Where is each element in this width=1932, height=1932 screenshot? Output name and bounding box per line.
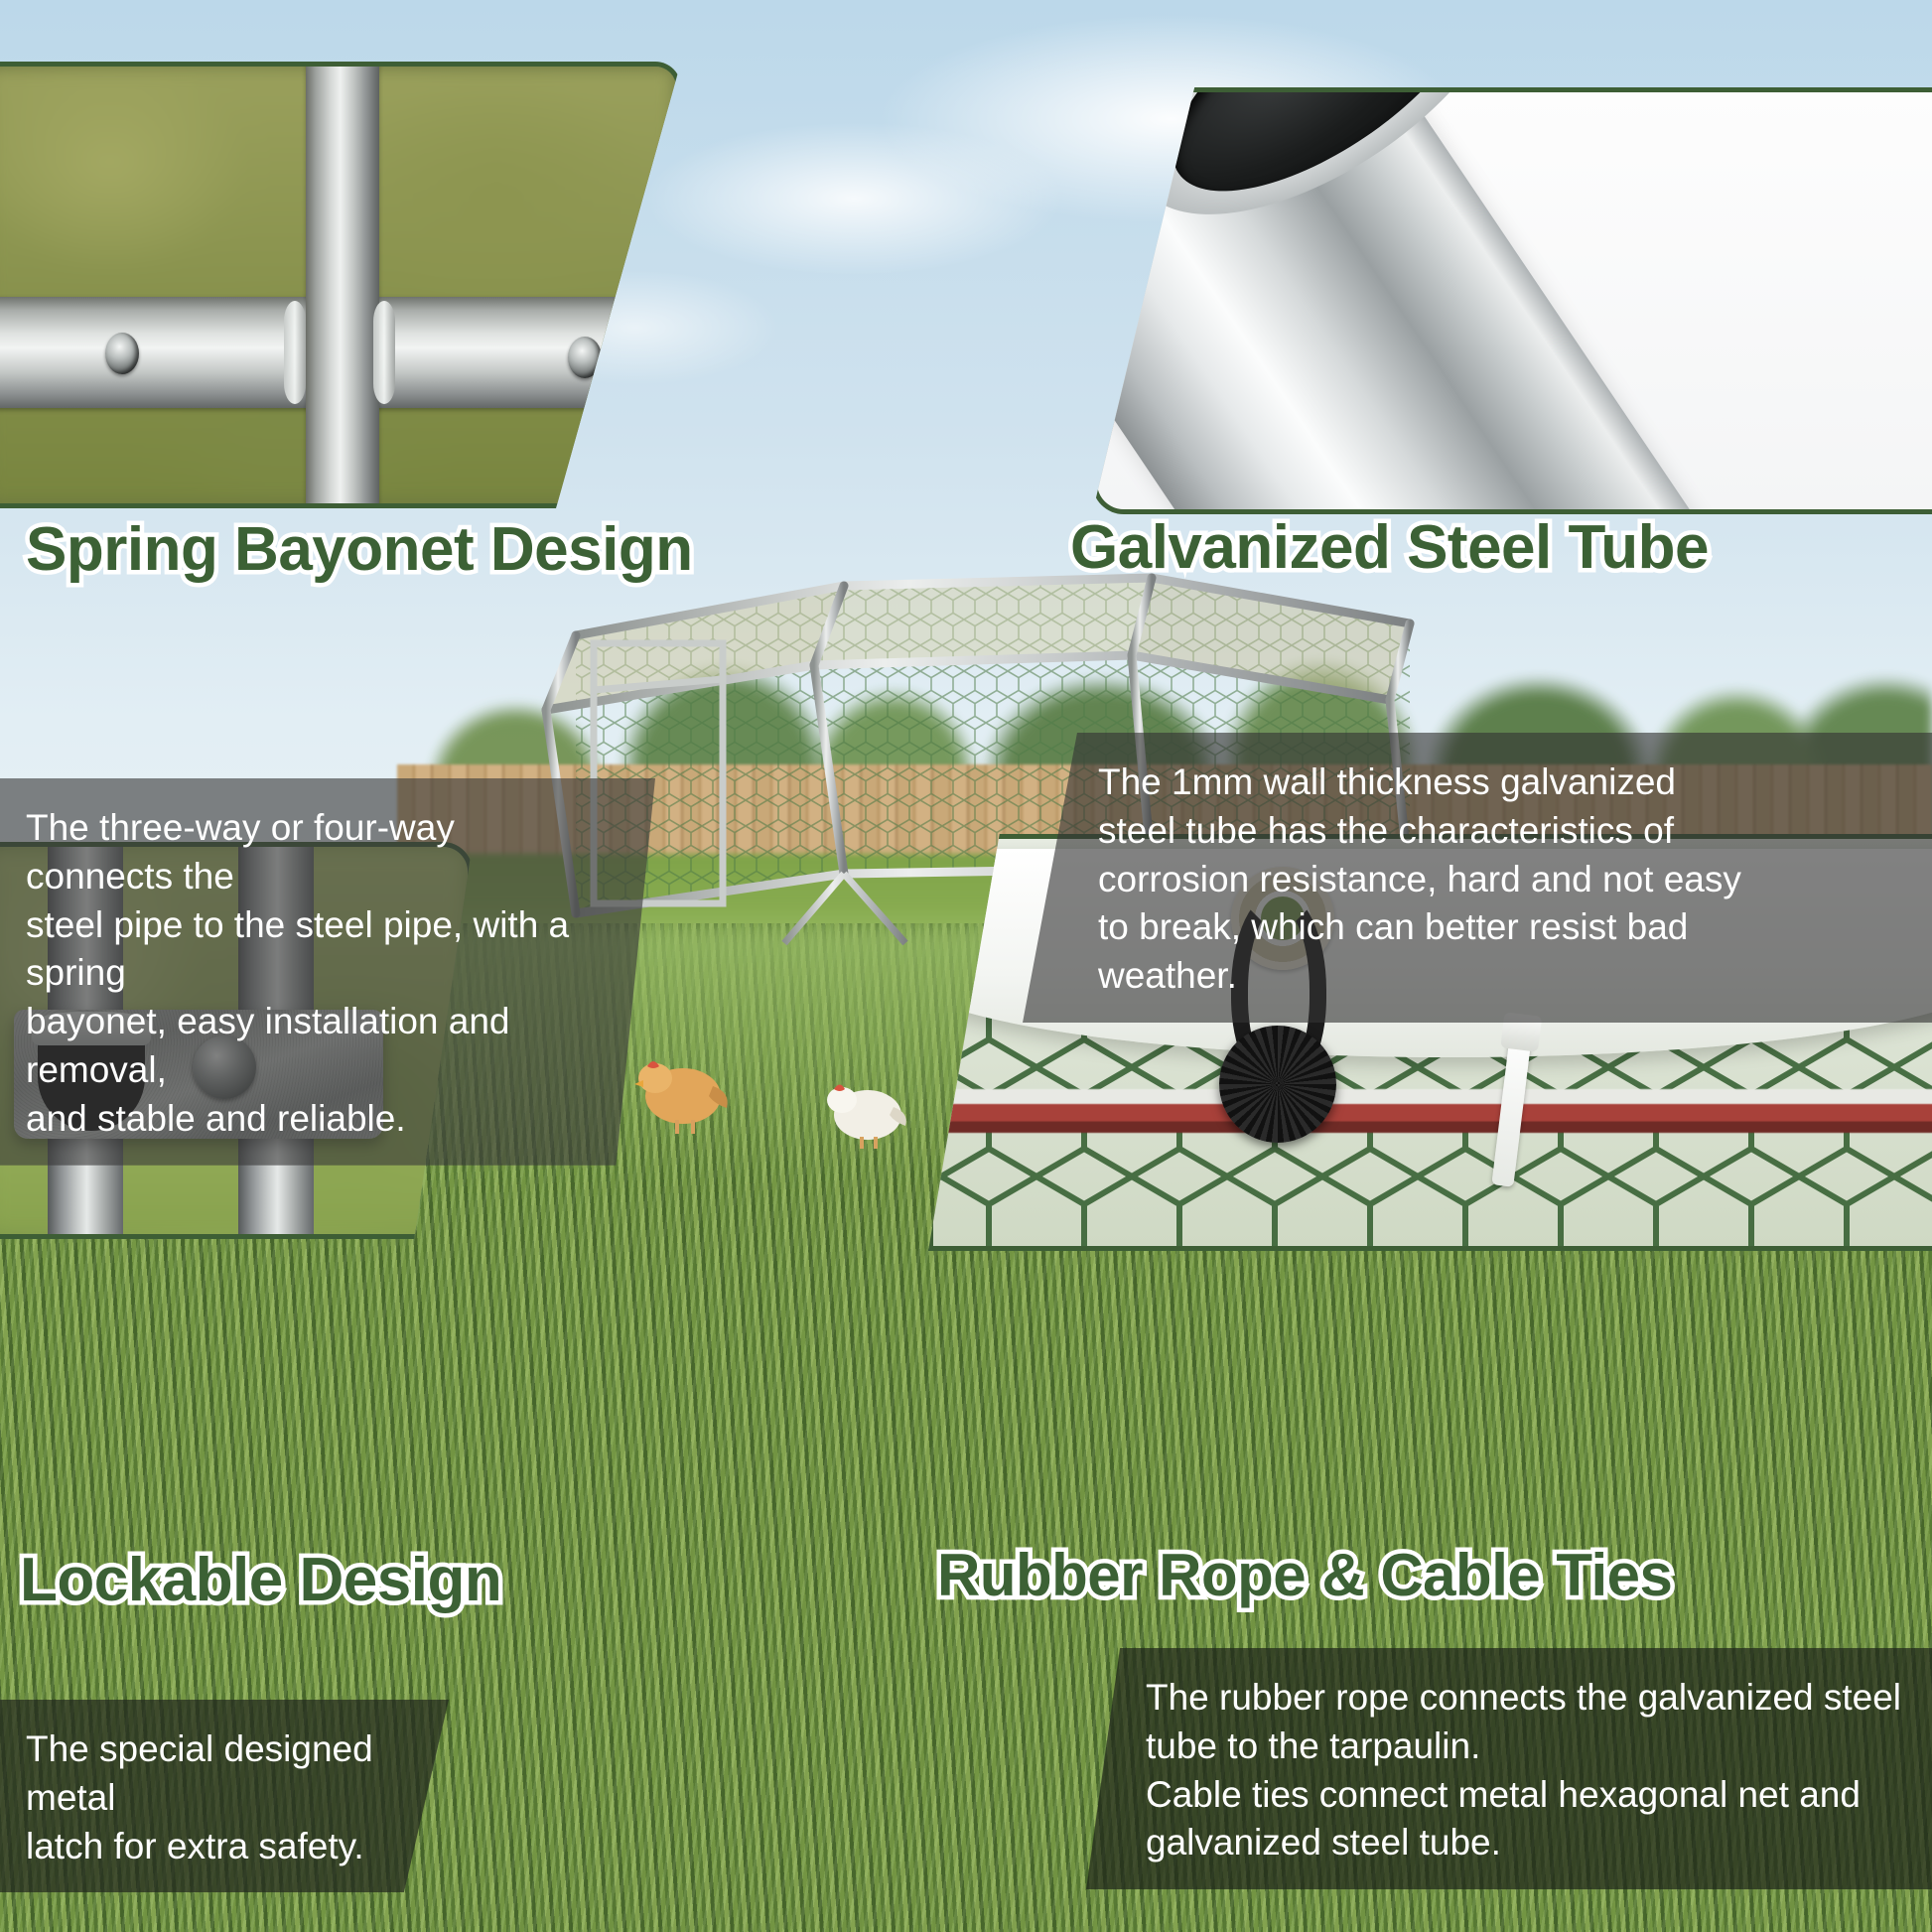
text-line: to break, which can better resist bad: [1098, 903, 1902, 952]
vertical-steel-pipe: [306, 62, 379, 508]
feature-title-rubber-rope-cable-ties: Rubber Rope & Cable Ties: [937, 1541, 1672, 1609]
feature-title-spring-bayonet: Spring Bayonet Design: [26, 514, 693, 585]
feature-text-galvanized-steel-tube: The 1mm wall thickness galvanized steel …: [1023, 733, 1932, 1023]
text-line: tube to the tarpaulin.: [1146, 1723, 1902, 1771]
feature-title-galvanized-steel-tube: Galvanized Steel Tube: [1070, 512, 1709, 583]
infographic-canvas: Spring Bayonet Design Galvanized Steel T…: [0, 0, 1932, 1932]
text-line: The rubber rope connects the galvanized …: [1146, 1674, 1902, 1723]
weld-ring-right: [373, 301, 395, 404]
text-line: and stable and reliable.: [26, 1095, 596, 1144]
text-line: galvanized steel tube.: [1146, 1819, 1902, 1867]
text-line: bayonet, easy installation and removal,: [26, 998, 596, 1095]
galvanized-tube-bar: [928, 1089, 1932, 1133]
feature-text-rubber-rope-cable-ties: The rubber rope connects the galvanized …: [1086, 1648, 1932, 1889]
text-line: weather.: [1098, 952, 1902, 1001]
text-line: Cable ties connect metal hexagonal net a…: [1146, 1771, 1902, 1820]
text-line: steel tube has the characteristics of: [1098, 807, 1902, 856]
text-line: The three-way or four-way connects the: [26, 804, 596, 901]
text-line: latch for extra safety.: [26, 1823, 393, 1871]
bolt-left: [105, 333, 139, 374]
weld-ring-left: [284, 301, 306, 404]
rubber-rope-ball: [1219, 1026, 1336, 1143]
feature-text-spring-bayonet: The three-way or four-way connects the s…: [0, 778, 655, 1166]
feature-title-lockable-design: Lockable Design: [20, 1545, 501, 1615]
chicken-left: [625, 1040, 735, 1136]
text-line: steel pipe to the steel pipe, with a spr…: [26, 901, 596, 999]
text-line: corrosion resistance, hard and not easy: [1098, 856, 1902, 904]
text-line: The 1mm wall thickness galvanized: [1098, 759, 1902, 807]
feature-photo-galvanized-steel-tube: [1092, 87, 1932, 514]
text-line: The special designed metal: [26, 1725, 393, 1823]
chicken-center: [814, 1067, 913, 1151]
feature-text-lockable-design: The special designed metal latch for ext…: [0, 1700, 449, 1892]
